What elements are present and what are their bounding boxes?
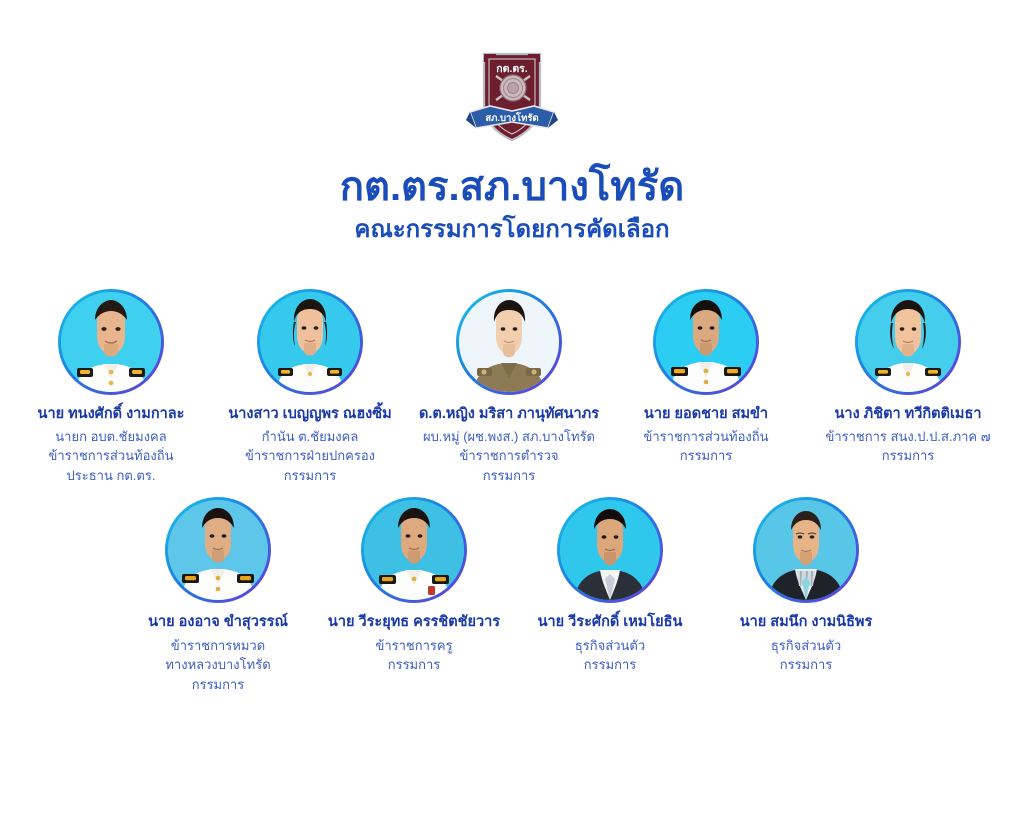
member-name: ด.ต.หญิง มริสา ภานุทัศนาภร xyxy=(419,405,599,423)
page-subtitle: คณะกรรมการโดยการคัดเลือก xyxy=(354,216,669,245)
member-card[interactable]: ด.ต.หญิง มริสา ภานุทัศนาภร ผบ.หมู่ (ผช.พ… xyxy=(409,289,609,486)
avatar-ring xyxy=(165,497,271,603)
member-roles: ข้าราชการครู กรรมการ xyxy=(375,636,452,675)
member-card[interactable]: นาย องอาจ ขำสุวรรณ์ ข้าราชการหมวด ทางหลว… xyxy=(120,497,316,694)
avatar-ring xyxy=(456,289,562,395)
member-role: ข้าราชการ สนง.ป.ป.ส.ภาค ๗ xyxy=(825,427,990,447)
member-role: กรรมการ xyxy=(643,446,768,466)
member-role: กรรมการ xyxy=(375,655,452,675)
avatar-ring xyxy=(58,289,164,395)
member-role: ผบ.หมู่ (ผช.พงส.) สภ.บางโทรัด xyxy=(423,427,595,447)
member-roles: นายก อบต.ชัยมงคล ข้าราชการส่วนท้องถิ่น ป… xyxy=(48,427,173,486)
member-grid: นาย ทนงศักดิ์ งามกาละ นายก อบต.ชัยมงคล ข… xyxy=(0,289,1024,694)
avatar xyxy=(459,292,559,392)
avatar xyxy=(364,500,464,600)
avatar xyxy=(560,500,660,600)
member-name: นาย ยอดชาย สมขำ xyxy=(644,405,768,423)
member-role: ข้าราชการส่วนท้องถิ่น xyxy=(643,427,768,447)
avatar-ring xyxy=(361,497,467,603)
member-role: กรรมการ xyxy=(771,655,841,675)
member-roles: ข้าราชการหมวด ทางหลวงบางโทรัด กรรมการ xyxy=(165,636,270,695)
member-role: ข้าราชการส่วนท้องถิ่น xyxy=(48,446,173,466)
member-name: นาง ภิชิตา ทวีกิตติเมธา xyxy=(835,405,982,423)
avatar xyxy=(656,292,756,392)
avatar-ring xyxy=(257,289,363,395)
member-card[interactable]: นาง ภิชิตา ทวีกิตติเมธา ข้าราชการ สนง.ป.… xyxy=(803,289,1013,466)
member-role: ประธาน กต.ตร. xyxy=(48,466,173,486)
member-card[interactable]: นาย ทนงศักดิ์ งามกาละ นายก อบต.ชัยมงคล ข… xyxy=(11,289,211,486)
avatar xyxy=(61,292,161,392)
member-role: กรรมการ xyxy=(165,675,270,695)
svg-text:กต.ตร.: กต.ตร. xyxy=(496,63,528,75)
committee-board: กต.ตร. สภ.บางโทรัด กต.ตร.สภ.บางโทรัด คณะ… xyxy=(0,0,1024,819)
member-name: นางสาว เบญญพร ณฮงซิ้ม xyxy=(228,405,391,423)
member-roles: ข้าราชการส่วนท้องถิ่น กรรมการ xyxy=(643,427,768,466)
member-role: ธุรกิจส่วนตัว xyxy=(575,636,645,656)
avatar xyxy=(168,500,268,600)
police-shield-crest-icon: กต.ตร. สภ.บางโทรัด xyxy=(460,42,564,148)
member-name: นาย ทนงศักดิ์ งามกาละ xyxy=(38,405,185,423)
avatar-ring xyxy=(753,497,859,603)
member-card[interactable]: นางสาว เบญญพร ณฮงซิ้ม กำนัน ต.ชัยมงคล ข้… xyxy=(211,289,409,486)
member-role: กรรมการ xyxy=(575,655,645,675)
avatar xyxy=(260,292,360,392)
member-name: นาย วีระยุทธ ครรชิตชัยวาร xyxy=(328,613,500,631)
member-role: นายก อบต.ชัยมงคล xyxy=(48,427,173,447)
member-role: กรรมการ xyxy=(825,446,990,466)
member-row-1: นาย ทนงศักดิ์ งามกาละ นายก อบต.ชัยมงคล ข… xyxy=(0,289,1024,486)
member-roles: ธุรกิจส่วนตัว กรรมการ xyxy=(771,636,841,675)
member-role: กรรมการ xyxy=(423,466,595,486)
member-name: นาย องอาจ ขำสุวรรณ์ xyxy=(148,613,288,631)
member-card[interactable]: นาย วีระยุทธ ครรชิตชัยวาร ข้าราชการครู ก… xyxy=(316,497,512,674)
member-role: ข้าราชการตำรวจ xyxy=(423,446,595,466)
member-card[interactable]: นาย สมนึก งามนิธิพร ธุรกิจส่วนตัว กรรมกา… xyxy=(708,497,904,674)
member-roles: ผบ.หมู่ (ผช.พงส.) สภ.บางโทรัด ข้าราชการต… xyxy=(423,427,595,486)
member-role: ข้าราชการหมวด xyxy=(165,636,270,656)
member-role: กำนัน ต.ชัยมงคล xyxy=(245,427,375,447)
member-card[interactable]: นาย ยอดชาย สมขำ ข้าราชการส่วนท้องถิ่น กร… xyxy=(609,289,803,466)
page-title: กต.ตร.สภ.บางโทรัด xyxy=(340,164,684,210)
avatar xyxy=(756,500,856,600)
member-card[interactable]: นาย วีระศักดิ์ เหมโยธิน ธุรกิจส่วนตัว กร… xyxy=(512,497,708,674)
member-name: นาย สมนึก งามนิธิพร xyxy=(740,613,873,631)
svg-text:สภ.บางโทรัด: สภ.บางโทรัด xyxy=(485,112,538,124)
avatar xyxy=(858,292,958,392)
member-roles: กำนัน ต.ชัยมงคล ข้าราชการฝ่ายปกครอง กรรม… xyxy=(245,427,375,486)
avatar-ring xyxy=(557,497,663,603)
member-role: ธุรกิจส่วนตัว xyxy=(771,636,841,656)
avatar-ring xyxy=(653,289,759,395)
member-name: นาย วีระศักดิ์ เหมโยธิน xyxy=(538,613,683,631)
member-roles: ข้าราชการ สนง.ป.ป.ส.ภาค ๗ กรรมการ xyxy=(825,427,990,466)
member-role: กรรมการ xyxy=(245,466,375,486)
board-header: กต.ตร. สภ.บางโทรัด กต.ตร.สภ.บางโทรัด คณะ… xyxy=(0,0,1024,245)
avatar-ring xyxy=(855,289,961,395)
member-role: ข้าราชการฝ่ายปกครอง xyxy=(245,446,375,466)
member-roles: ธุรกิจส่วนตัว กรรมการ xyxy=(575,636,645,675)
member-row-2: นาย องอาจ ขำสุวรรณ์ ข้าราชการหมวด ทางหลว… xyxy=(0,497,1024,694)
member-role: ข้าราชการครู xyxy=(375,636,452,656)
member-role: ทางหลวงบางโทรัด xyxy=(165,655,270,675)
